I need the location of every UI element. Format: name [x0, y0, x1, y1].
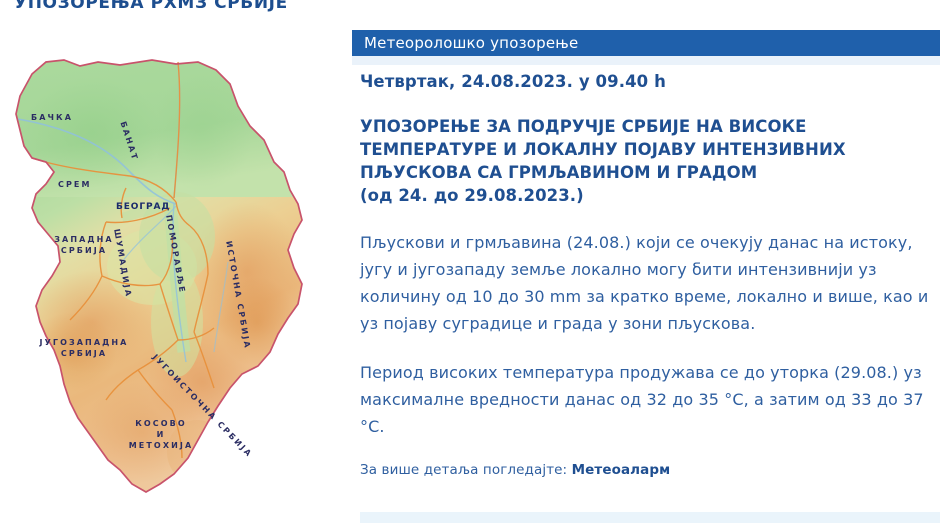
warning-header-underbar: [352, 56, 940, 65]
warning-paragraph-rain: Пљускови и грмљавина (24.08.) који се оч…: [360, 229, 940, 337]
meteoalarm-link[interactable]: Метеоаларм: [572, 462, 671, 478]
page-title: УПОЗОРЕЊА РХМЗ СРБИЈЕ: [14, 0, 288, 13]
warning-headline: УПОЗОРЕЊЕ ЗА ПОДРУЧЈЕ СРБИЈЕ НА ВИСОКЕ Т…: [360, 115, 940, 207]
serbia-map-panel: БАЧКА БАНАТ СРЕМ БЕОГРАД ЗАПАДНА СРБИЈА …: [0, 22, 345, 523]
warning-issue-date: Четвртак, 24.08.2023. у 09.40 h: [360, 72, 940, 91]
warning-bottom-bar: [360, 512, 940, 523]
warning-headline-main: УПОЗОРЕЊЕ ЗА ПОДРУЧЈЕ СРБИЈЕ НА ВИСОКЕ Т…: [360, 117, 846, 182]
warning-body: Четвртак, 24.08.2023. у 09.40 h УПОЗОРЕЊ…: [360, 72, 940, 478]
warning-footer: За више детаља погледајте: Метеоаларм: [360, 462, 940, 478]
warning-header-title: Метеоролошко упозорење: [364, 34, 578, 52]
serbia-map-image: [2, 22, 342, 522]
warning-headline-period: (од 24. до 29.08.2023.): [360, 184, 940, 207]
warning-footer-text: За више детаља погледајте:: [360, 462, 567, 478]
warning-header-bar: Метеоролошко упозорење: [352, 30, 940, 56]
weather-warning-panel: Метеоролошко упозорење Четвртак, 24.08.2…: [352, 0, 940, 523]
warning-paragraph-heat: Период високих температура продужава се …: [360, 359, 940, 440]
map-relief: [2, 22, 342, 522]
